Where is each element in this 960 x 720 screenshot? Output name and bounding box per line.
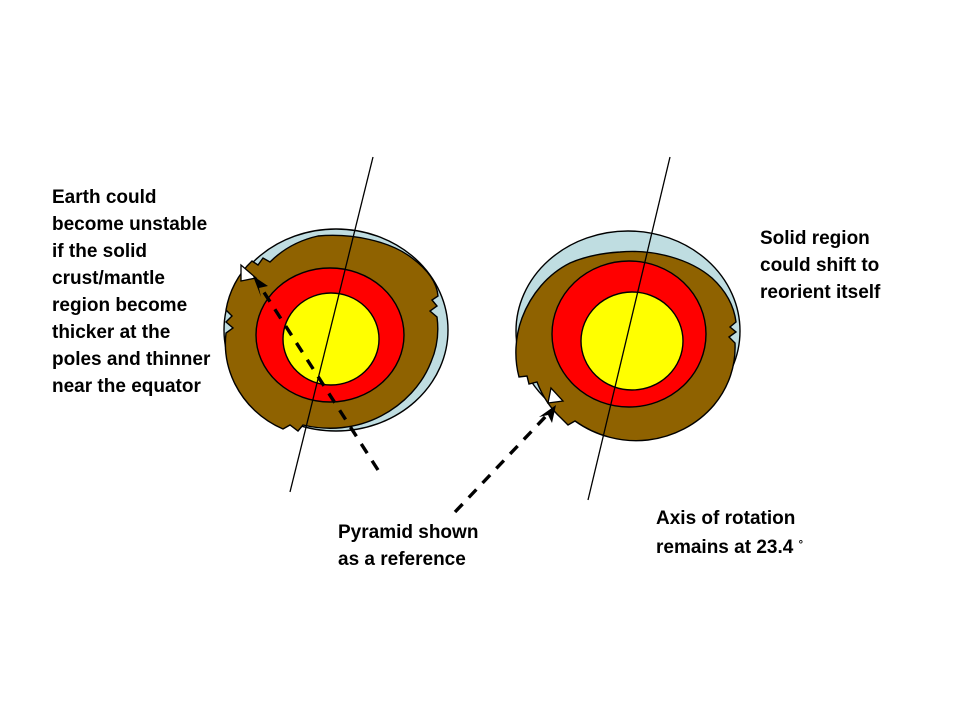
pyramid-pointer-right-shaft	[455, 414, 548, 512]
earth-right-group	[516, 157, 740, 500]
earth-left-inner-core	[283, 293, 379, 385]
annotation-pyramid-reference: Pyramid shown as a reference	[338, 519, 538, 573]
annotation-axis-of-rotation: Axis of rotationremains at 23.4 °	[656, 505, 876, 561]
earth-right-inner-core	[581, 292, 683, 390]
annotation-solid-region-shift: Solid region could shift to reorient its…	[760, 225, 950, 306]
degree-symbol-icon: °	[799, 539, 803, 551]
axis-note-line-2: remains at 23.4	[656, 537, 793, 558]
annotation-earth-instability: Earth could become unstable if the solid…	[52, 184, 252, 400]
earth-left-group	[224, 157, 448, 492]
diagram-canvas: Earth could become unstable if the solid…	[0, 0, 960, 720]
axis-note-line-1: Axis of rotation	[656, 508, 795, 529]
pyramid-pointer-right	[455, 405, 556, 512]
